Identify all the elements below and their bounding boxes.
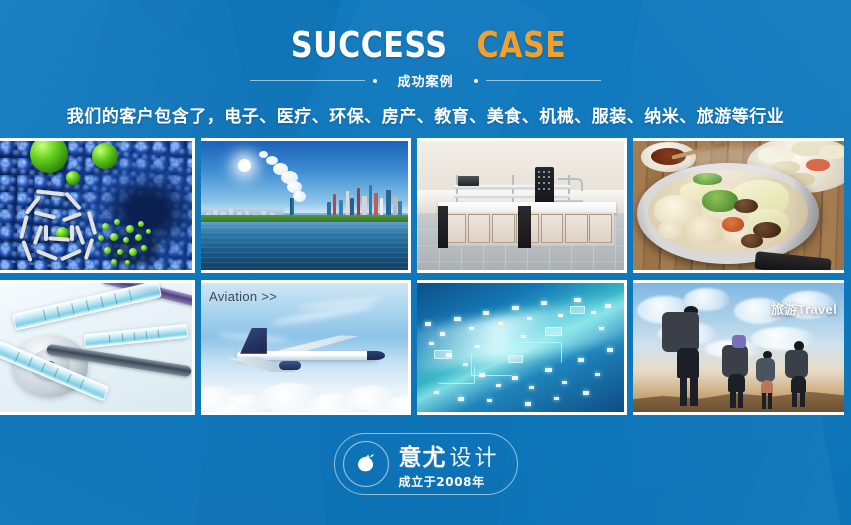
banner-header: SUCCESSCASE 成功案例 我们的客户包含了，电子、医疗、环保、房产、教育… (0, 0, 851, 138)
page-background: SUCCESSCASE 成功案例 我们的客户包含了，电子、医疗、环保、房产、教育… (0, 0, 851, 525)
circuit-sparkles (417, 283, 624, 412)
syringe (12, 281, 162, 331)
divider-line-right (486, 80, 601, 81)
divider-line-left (250, 80, 365, 81)
hiker-figure (781, 341, 819, 406)
brand-logo[interactable]: 意尤 设计 成立于2008年 (334, 433, 518, 495)
hotpot-icon (633, 141, 844, 270)
footer-area: 意尤 设计 成立于2008年 (0, 418, 851, 525)
lab-bench-icon (417, 141, 624, 270)
circuit-board-icon (417, 283, 624, 412)
gallery-tile-food[interactable] (633, 138, 844, 273)
tile-caption-travel: 旅游Travel (771, 299, 837, 318)
brand-tagline: 成立于2008年 (399, 473, 500, 490)
airplane-icon: Aviation >> (201, 283, 408, 412)
gallery-tile-environment[interactable] (201, 138, 411, 273)
industry-list-text: 我们的客户包含了，电子、医疗、环保、房产、教育、美食、机械、服装、纳米、旅游等行… (0, 102, 851, 127)
industrial-plant (325, 184, 404, 218)
page-subtitle: 成功案例 (385, 71, 465, 90)
hiker-figure (658, 304, 721, 405)
case-gallery-grid: Aviation >> (0, 138, 851, 415)
divider-dot-left (373, 79, 377, 83)
mouse-bird-mark-icon (343, 441, 389, 487)
gallery-tile-medical[interactable] (0, 280, 195, 415)
backpacker-icon: 旅游Travel (633, 283, 844, 412)
smoke-plume (259, 151, 309, 203)
gallery-tile-travel[interactable]: 旅游Travel (633, 280, 844, 415)
title-divider: 成功案例 (0, 71, 851, 90)
tile-caption-aviation: Aviation >> (209, 289, 277, 304)
gallery-tile-aviation[interactable]: Aviation >> (201, 280, 411, 415)
molecule-icon (0, 141, 192, 270)
gallery-tile-lab[interactable] (417, 138, 627, 273)
cloud-layer (201, 363, 411, 415)
brand-name-bold: 意尤 (399, 438, 447, 472)
stethoscope-icon (0, 283, 192, 412)
hotpot-contents (648, 170, 808, 255)
divider-dot-right (474, 79, 478, 83)
gallery-tile-electronics[interactable] (417, 280, 627, 415)
page-title-accent: CASE (477, 26, 567, 66)
factory-icon (201, 141, 408, 270)
syringe (84, 324, 189, 349)
page-title-primary: SUCCESS (291, 26, 448, 66)
page-title: SUCCESSCASE (0, 26, 851, 66)
brand-name-light: 设计 (450, 440, 500, 472)
gallery-tile-nano[interactable] (0, 138, 195, 273)
fullerene-structure (10, 189, 106, 273)
